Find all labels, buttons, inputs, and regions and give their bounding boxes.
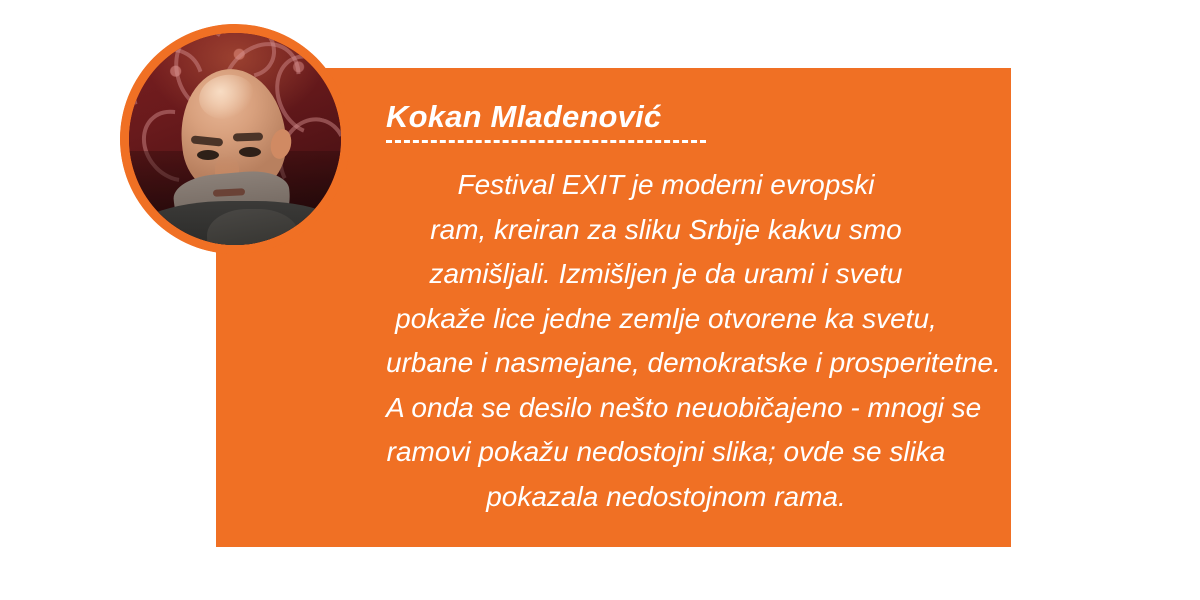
quote-line: A onda se desilo nešto neuobičajeno - mn… — [386, 386, 946, 431]
quote-card: Kokan Mladenović Festival EXIT je modern… — [0, 0, 1200, 600]
speaker-name: Kokan Mladenović — [386, 98, 946, 136]
quote-line: urbane i nasmejane, demokratske i prospe… — [386, 341, 946, 386]
quote-content: Kokan Mladenović Festival EXIT je modern… — [386, 98, 946, 519]
quote-line: zamišljali. Izmišljen je da urami i svet… — [386, 252, 946, 297]
quote-text: Festival EXIT je moderni evropski ram, k… — [386, 163, 946, 519]
quote-line: ram, kreiran za sliku Srbije kakvu smo — [386, 208, 946, 253]
quote-line: pokaže lice jedne zemlje otvorene ka sve… — [386, 297, 946, 342]
quote-line: Festival EXIT je moderni evropski — [386, 163, 946, 208]
quote-line: pokazala nedostojnom rama. — [386, 475, 946, 520]
quote-line: ramovi pokažu nedostojni slika; ovde se … — [386, 430, 946, 475]
avatar — [120, 24, 350, 254]
portrait-eye-right — [239, 147, 261, 157]
portrait-eye-left — [197, 150, 219, 160]
name-divider — [386, 140, 706, 143]
portrait-eyebrow-right — [233, 132, 263, 141]
portrait-photo — [129, 33, 341, 245]
